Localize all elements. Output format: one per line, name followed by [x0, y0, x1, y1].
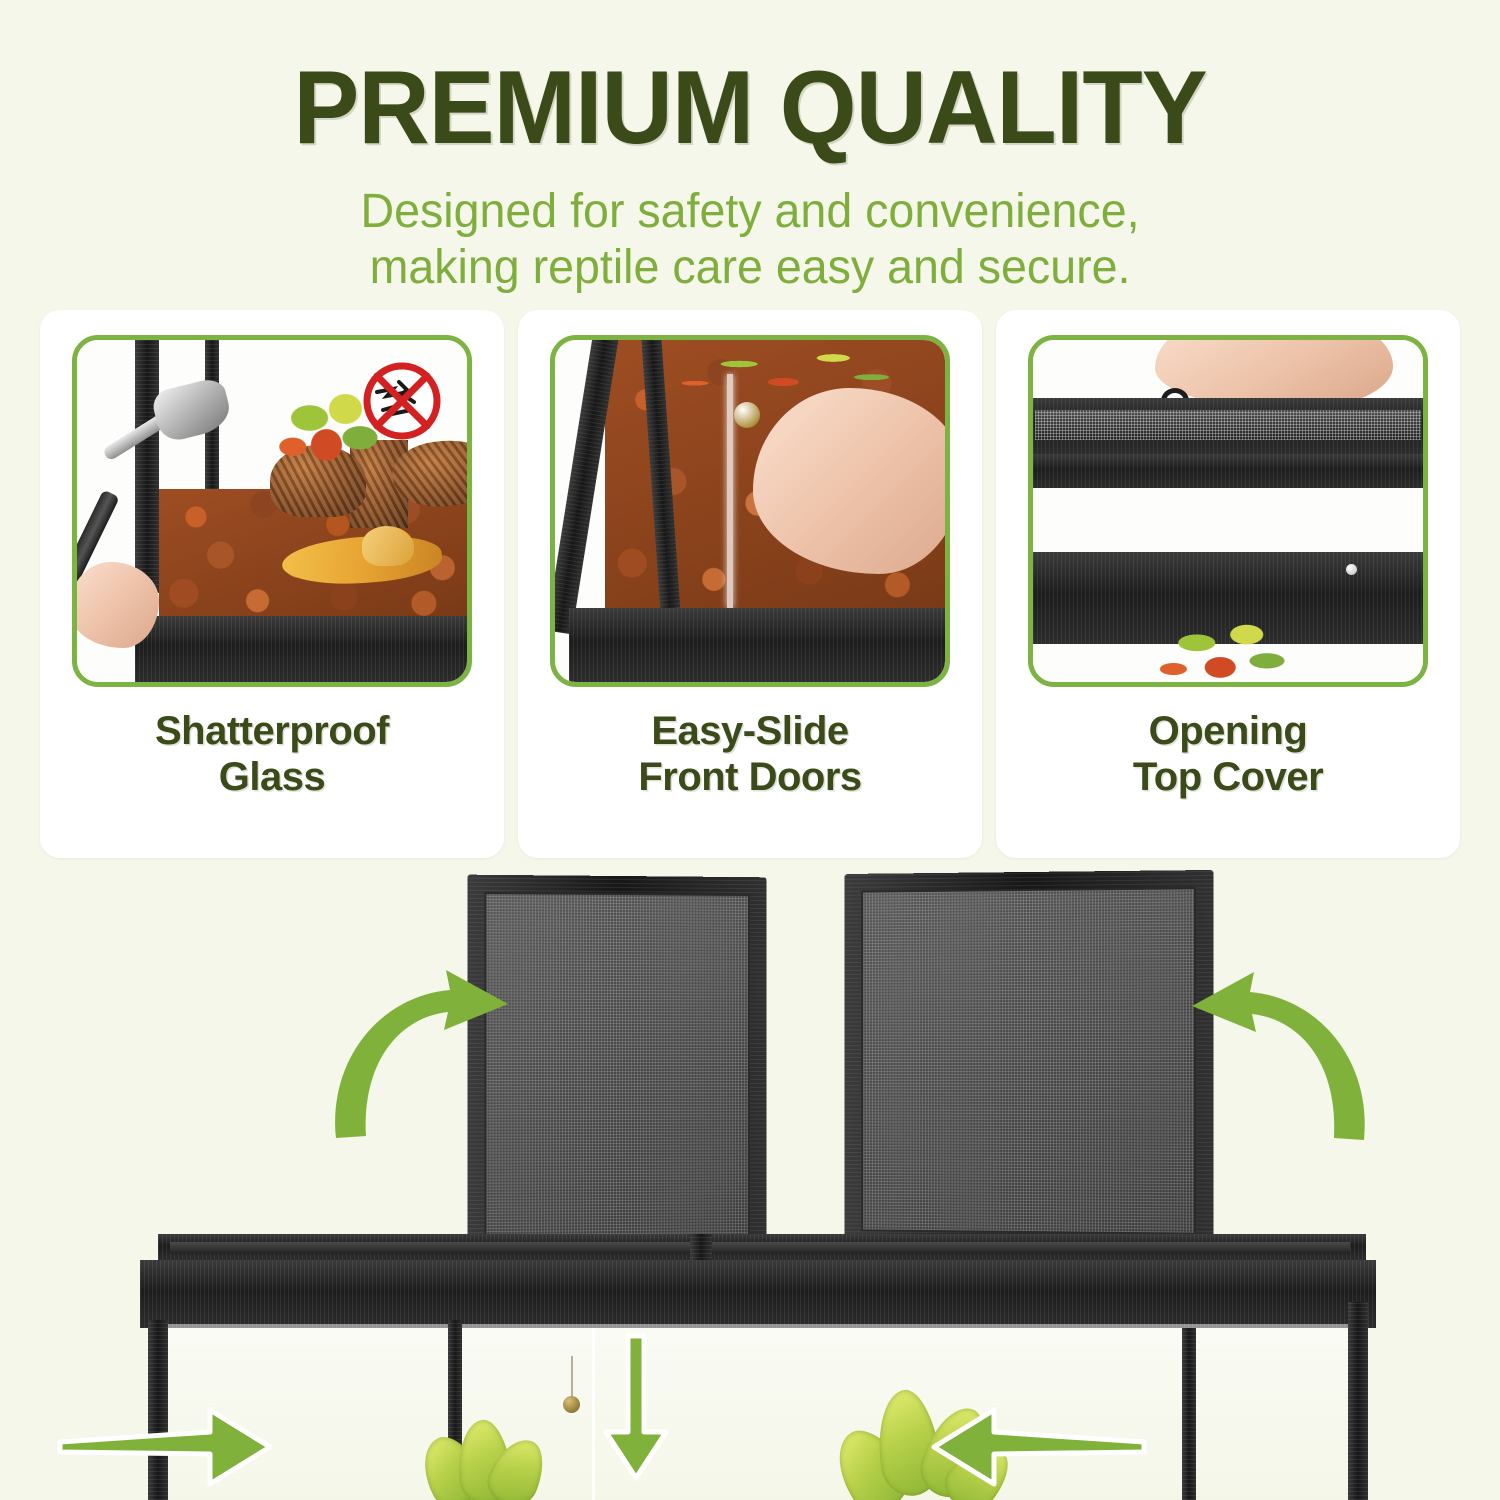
- plant-icon: [651, 340, 945, 400]
- feature-photo-opening-top-cover: [1028, 335, 1428, 687]
- top-frame-icon: [1033, 454, 1423, 488]
- feature-card-easy-slide-front-doors: Easy-Slide Front Doors: [518, 310, 982, 858]
- feature-photo-shatterproof-glass: [72, 335, 472, 687]
- knob-wire: [571, 1356, 573, 1398]
- arrow-curve-left-icon: [322, 956, 532, 1146]
- terrarium-post-icon: [135, 340, 159, 593]
- page-title: PREMIUM QUALITY: [38, 0, 1463, 160]
- mesh-screen-icon: [861, 887, 1196, 1234]
- feature-card-list: Shatterproof Glass Easy-Slide Front Door…: [40, 310, 1460, 858]
- mesh-top-lid-right: [845, 870, 1214, 1252]
- tank-post-right-inner: [1182, 1328, 1196, 1500]
- hand-icon: [72, 562, 159, 648]
- terrarium-base-icon: [569, 608, 945, 682]
- plant-icon: [1150, 610, 1306, 687]
- terrarium-base-icon: [135, 616, 467, 682]
- feature-label-line-2: Top Cover: [1133, 755, 1323, 801]
- sliding-glass-door-icon: [727, 374, 733, 608]
- feature-card-label: Easy-Slide Front Doors: [638, 709, 861, 800]
- plant-icon: [418, 1402, 558, 1500]
- feature-label-line-1: Shatterproof: [155, 709, 389, 755]
- bearded-dragon-head-icon: [362, 526, 414, 566]
- feature-label-line-2: Front Doors: [638, 755, 861, 801]
- tank-center-brace: [170, 1242, 1350, 1254]
- tank-corner-post-right: [1348, 1302, 1368, 1500]
- arrow-right-pointing-icon: [60, 1404, 274, 1490]
- mesh-screen-icon: [1035, 410, 1421, 440]
- tank-top-front-rail: [140, 1260, 1376, 1328]
- feature-card-shatterproof-glass: Shatterproof Glass: [40, 310, 504, 858]
- feature-photo-easy-slide-front-doors: [550, 335, 950, 687]
- page-subtitle: Designed for safety and convenience, mak…: [23, 184, 1478, 296]
- front-door-seam: [592, 1328, 595, 1500]
- feature-card-opening-top-cover: Opening Top Cover: [996, 310, 1460, 858]
- feature-label-line-2: Glass: [155, 755, 389, 801]
- arrow-curve-right-icon: [1168, 958, 1378, 1148]
- feature-label-line-1: Easy-Slide: [638, 709, 861, 755]
- arrow-left-pointing-icon: [930, 1404, 1144, 1490]
- arrow-down-icon: [598, 1336, 674, 1482]
- door-knob-icon: [563, 1396, 580, 1413]
- no-crack-icon: [359, 358, 445, 444]
- subtitle-line-2: making reptile care easy and secure.: [23, 240, 1478, 296]
- feature-label-line-1: Opening: [1133, 709, 1323, 755]
- subtitle-line-1: Designed for safety and convenience,: [23, 184, 1478, 240]
- feature-card-label: Opening Top Cover: [1133, 709, 1323, 800]
- front-glass-panel: [168, 1324, 1348, 1500]
- feature-card-label: Shatterproof Glass: [155, 709, 389, 800]
- screw-icon: [1346, 564, 1357, 575]
